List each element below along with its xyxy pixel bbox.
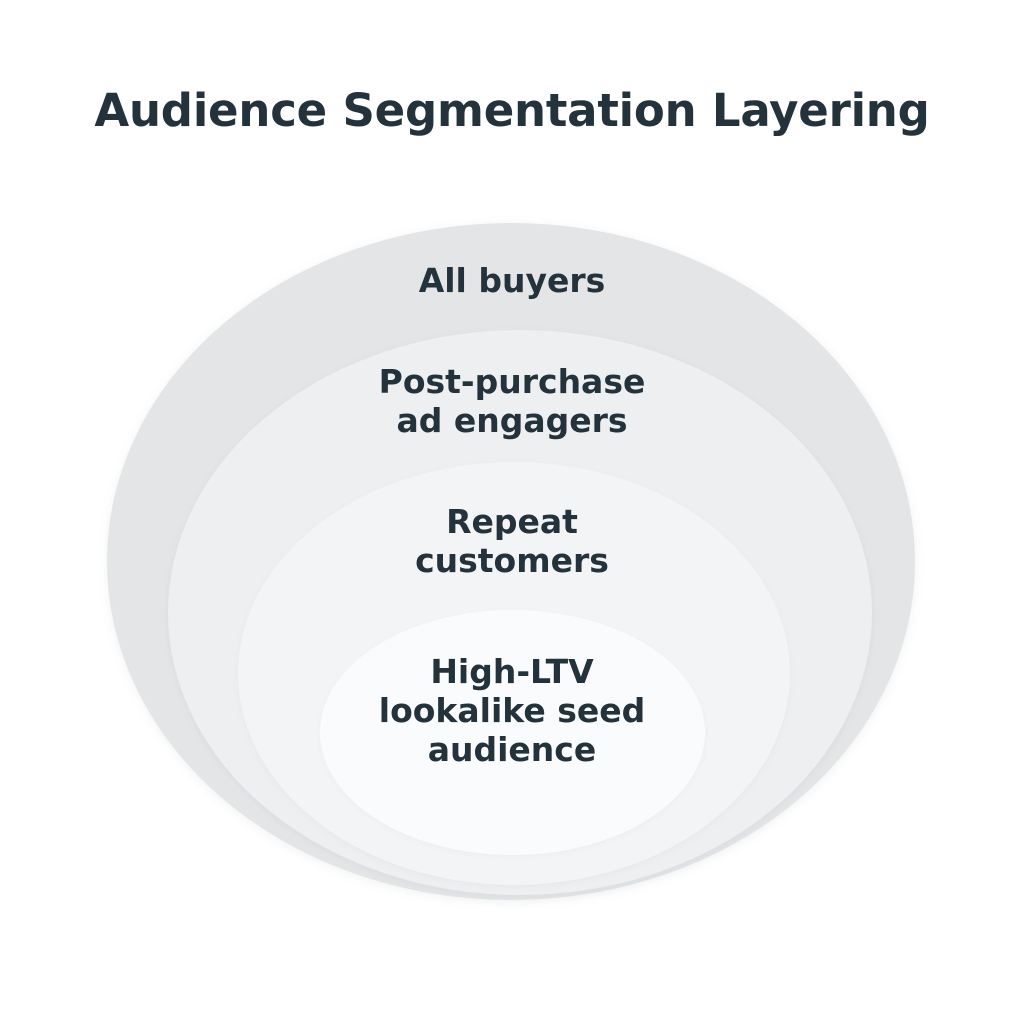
nested-ellipse-stack: All buyers Post-purchase ad engagers Rep… <box>0 0 1024 1024</box>
segment-label-post-purchase-ad-engagers: Post-purchase ad engagers <box>0 363 1024 441</box>
segment-label-repeat-customers: Repeat customers <box>0 503 1024 581</box>
segment-label-all-buyers: All buyers <box>0 262 1024 301</box>
segment-label-high-ltv-lookalike-seed-audience: High-LTV lookalike seed audience <box>0 653 1024 770</box>
diagram-canvas: Audience Segmentation Layering All buyer… <box>0 0 1024 1024</box>
